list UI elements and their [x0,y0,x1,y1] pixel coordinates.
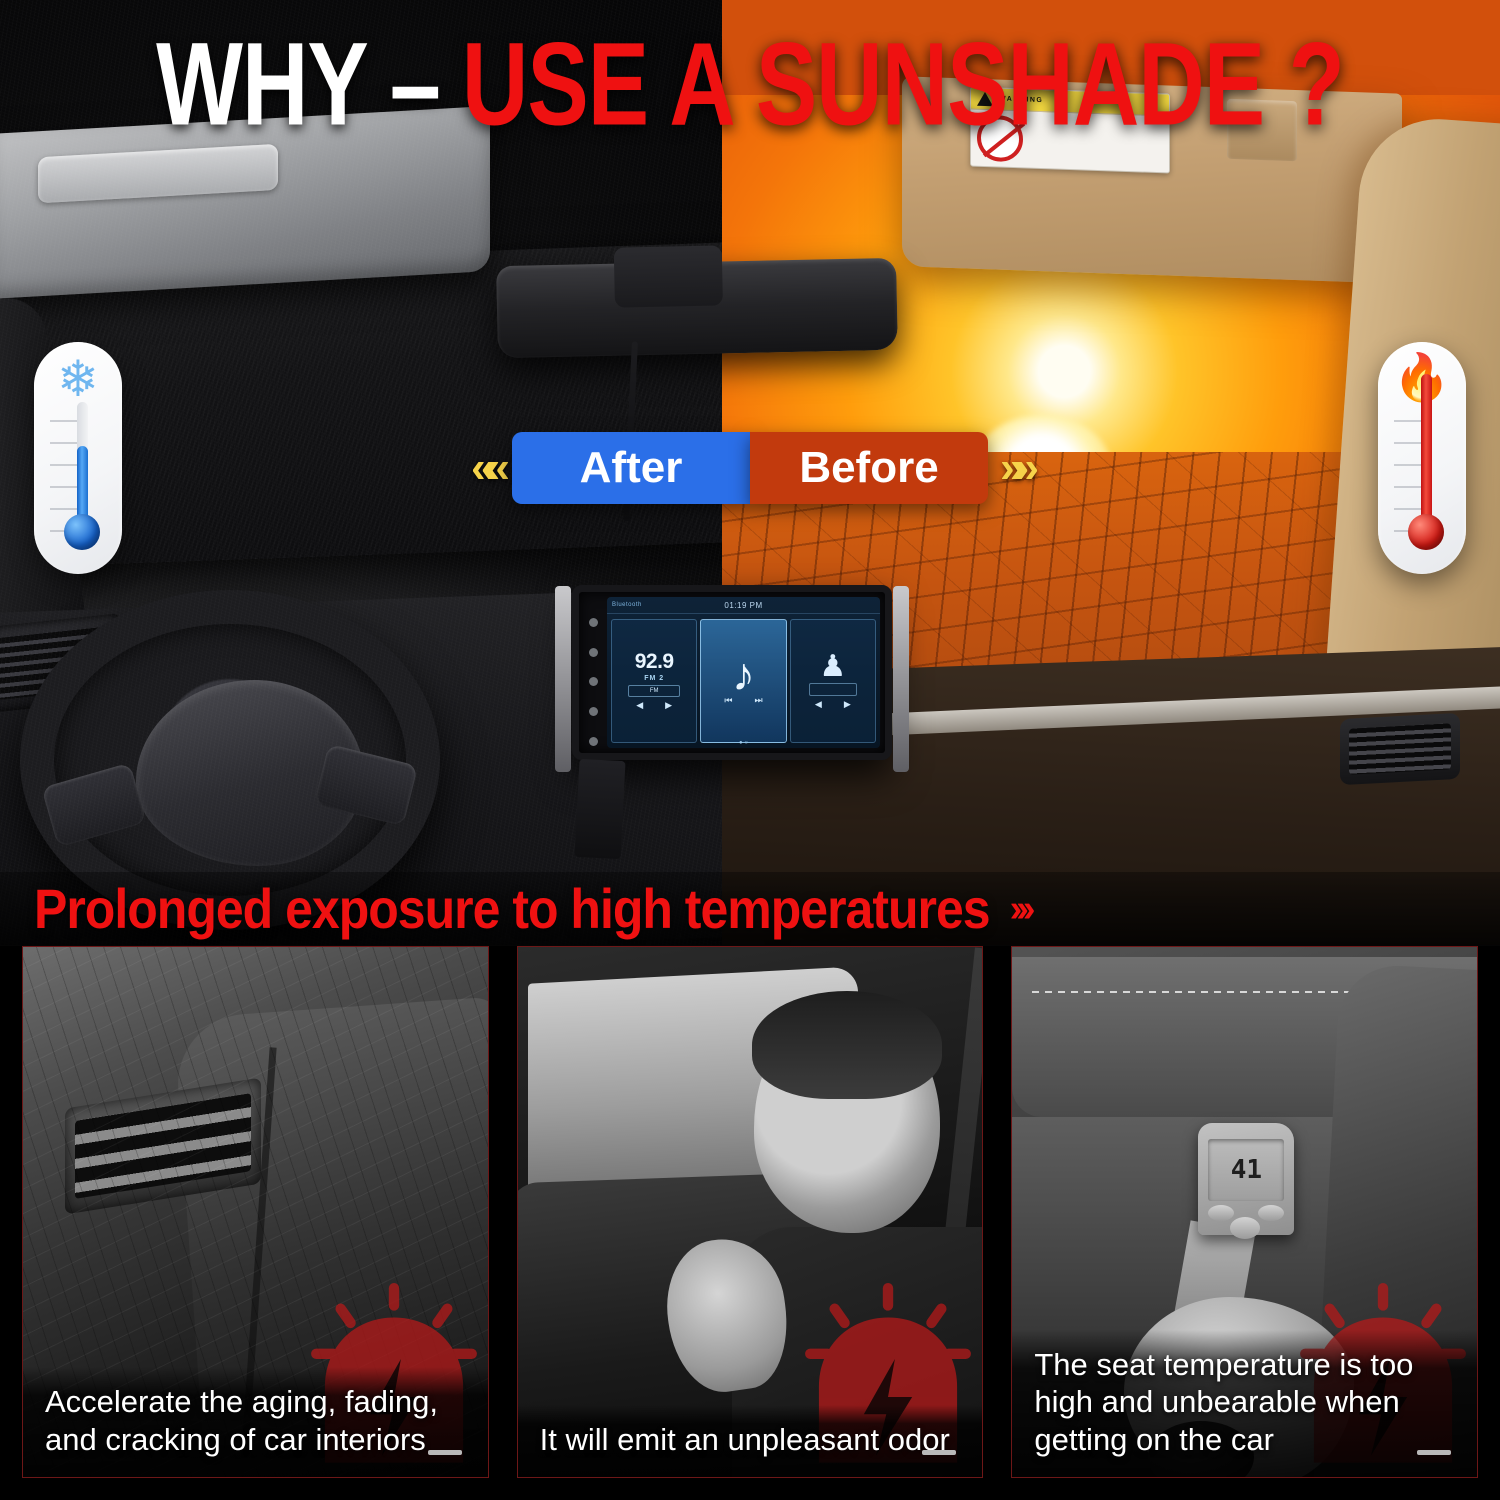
caption-dash-mark [922,1450,956,1455]
hot-thermometer: 🔥 [1378,342,1466,574]
media-next-icon[interactable]: ⏭ [754,695,762,706]
radio-preset[interactable]: FM [628,685,680,697]
seat-setting-bar[interactable] [809,683,857,696]
volume-button-icon[interactable] [589,677,598,686]
title-highlight: USE A SUNSHADE ? [462,26,1344,144]
aging-cracking-panel: Accelerate the aging, fading, and cracki… [22,946,489,1478]
thermometer-button-left [1208,1205,1234,1221]
media-nav[interactable]: ⏮ ⏭ [724,695,762,706]
bluetooth-status: Bluetooth [612,602,642,608]
profile-tile[interactable]: ♟ ◀ ▶ [790,619,876,743]
infrared-thermometer: SCAN°C 41 [1198,1123,1294,1235]
caption-dash-mark [1417,1450,1451,1455]
thermometer-button-right [1258,1205,1284,1221]
before-after-toggle: «« After Before »» [0,432,1500,504]
title-dash: – [390,26,462,144]
chevron-left-icon: «« [471,446,500,490]
media-tile[interactable]: ♪ ⏮ ⏭ [700,619,786,743]
cold-thermometer: ❄ [34,342,122,574]
radio-band: FM 2 [644,675,664,682]
page-indicator: ● ○ [607,740,880,746]
steering-controls-left [41,763,147,848]
panel-caption: The seat temperature is too high and unb… [1012,1330,1477,1477]
screen-rail-right [893,586,909,772]
media-prev-icon[interactable]: ⏮ [724,695,732,706]
thermometer-reading: 41 [1208,1139,1284,1201]
mid-banner: Prolonged exposure to high temperatures … [0,872,1500,945]
radio-prev-icon[interactable]: ◀ [636,700,643,711]
thermometer-bulb [1408,514,1444,550]
consequence-panels: Accelerate the aging, fading, and cracki… [0,946,1500,1500]
chevron-right-icon: »» [1000,446,1029,490]
profile-next-icon[interactable]: ▶ [844,699,851,710]
after-badge[interactable]: After [512,432,750,504]
unpleasant-odor-panel: It will emit an unpleasant odor [517,946,984,1478]
radio-frequency: 92.9 [635,651,674,672]
caption-dash-mark [428,1450,462,1455]
home-tiles: 92.9 FM 2 FM ◀ ▶ ♪ ⏮ ⏭ [607,614,880,748]
poster-canvas: WARNING [0,0,1500,1500]
man-covering-nose-photo [518,947,983,1477]
status-bar: Bluetooth 01:19 PM [607,597,880,614]
person-icon: ♟ [819,653,846,680]
profile-prev-icon[interactable]: ◀ [815,699,822,710]
mirror-mount [614,245,723,307]
infotainment-screen[interactable]: Bluetooth 01:19 PM 92.9 FM 2 FM ◀ ▶ ♪ [607,597,880,748]
thermometer-bulb [64,514,100,550]
home-button-icon[interactable] [589,648,598,657]
snowflake-icon: ❄ [34,354,122,404]
page-title: WHY – USE A SUNSHADE ? [0,26,1500,144]
title-why: WHY [156,26,390,144]
screen-side-buttons[interactable] [583,608,603,756]
panel-caption: Accelerate the aging, fading, and cracki… [23,1367,488,1477]
before-after-hero: WARNING [0,0,1500,945]
rearview-mirror [496,258,898,358]
before-badge[interactable]: Before [750,432,988,504]
screen-rail-left [555,586,571,772]
radio-next-icon[interactable]: ▶ [665,700,672,711]
seat-temperature-panel: SCAN°C 41 [1011,946,1478,1478]
menu-button-icon[interactable] [589,707,598,716]
clock: 01:19 PM [724,601,762,610]
hair [752,991,942,1099]
power-button-icon[interactable] [589,618,598,627]
thermometer-level [1421,374,1432,522]
radio-nav[interactable]: ◀ ▶ [636,700,672,711]
infotainment-head-unit[interactable]: Bluetooth 01:19 PM 92.9 FM 2 FM ◀ ▶ ♪ [572,585,892,760]
air-vent-right [1340,713,1460,785]
mid-banner-text: Prolonged exposure to high temperatures [0,877,990,942]
radio-tile[interactable]: 92.9 FM 2 FM ◀ ▶ [611,619,697,743]
thermometer-level [77,446,88,522]
chevron-triple-icon: ››› [1010,888,1030,931]
screen-mount-bracket [574,759,625,859]
back-button-icon[interactable] [589,737,598,746]
profile-nav[interactable]: ◀ ▶ [815,699,851,710]
music-note-icon: ♪ [732,656,755,693]
panel-caption: It will emit an unpleasant odor [518,1405,983,1477]
